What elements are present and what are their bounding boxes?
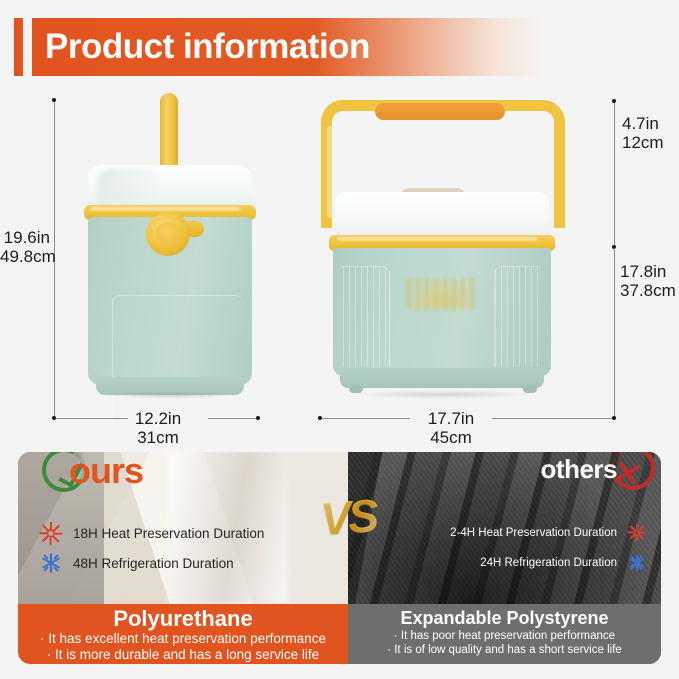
dimension-label-right-width: 17.7in 45cm: [411, 409, 491, 447]
product-image-side-view: [313, 100, 573, 400]
lid: [335, 192, 549, 240]
footer-others: Expandable Polystyrene · It has poor hea…: [348, 604, 661, 664]
badge-label-ours: ours: [69, 452, 143, 496]
comparison-panel-others: others 2-4H Heat Preservation Duration: [348, 452, 661, 664]
product-image-front-view: [82, 165, 258, 398]
material-title-others: Expandable Polystyrene: [348, 604, 661, 629]
handle-pivot-inner: [156, 222, 180, 246]
dimension-value-inches: 19.6in: [0, 228, 50, 247]
dimension-dot: [612, 99, 616, 103]
comparison-panel-ours: ours 18H Heat Preservation Duration: [18, 452, 348, 664]
rim-highlight: [90, 207, 240, 211]
footer-ours: Polyurethane · It has excellent heat pre…: [18, 604, 348, 664]
snowflake-icon: [40, 552, 62, 574]
dimension-value-cm: 12cm: [622, 133, 678, 152]
dimension-dot: [612, 416, 616, 420]
lid: [88, 165, 252, 209]
spec-row-heat-others: 2-4H Heat Preservation Duration: [450, 524, 645, 541]
material-bullet-ours-1: · It has excellent heat preservation per…: [18, 631, 348, 647]
drop-shadow: [349, 390, 535, 399]
spec-text-heat-ours: 18H Heat Preservation Duration: [73, 526, 264, 541]
sun-icon: [40, 522, 62, 544]
spec-text-cold-ours: 48H Refrigeration Duration: [73, 556, 234, 571]
dimension-line-right-handle: [614, 101, 615, 247]
dimension-value-cm: 45cm: [411, 428, 491, 447]
dimension-label-right-handle: 4.7in 12cm: [622, 114, 678, 152]
dimension-value-inches: 17.8in: [620, 262, 678, 281]
dimension-dot: [256, 416, 260, 420]
dimension-value-cm: 31cm: [118, 428, 198, 447]
spec-text-heat-others: 2-4H Heat Preservation Duration: [450, 527, 617, 539]
badge-others: others: [495, 452, 655, 498]
dimension-value-cm: 49.8cm: [0, 247, 50, 266]
body-ribbing-left: [343, 266, 390, 367]
dimension-value-cm: 37.8cm: [620, 281, 678, 300]
infographic-canvas: Product information 19.6in 49.8cm 12.2in…: [0, 0, 679, 679]
lid-highlight: [98, 169, 158, 203]
spec-row-cold-ours: 48H Refrigeration Duration: [40, 552, 234, 574]
handle-grip-pad: [375, 103, 505, 120]
x-mark-icon: [616, 465, 641, 481]
material-bullet-ours-2: · It is more durable and has a long serv…: [18, 647, 348, 663]
spec-row-heat-ours: 18H Heat Preservation Duration: [40, 522, 264, 544]
cooler-body: [333, 248, 551, 376]
dimension-label-right-height: 17.8in 37.8cm: [620, 262, 678, 300]
page-title: Product information: [45, 21, 370, 73]
comparison-section: ours 18H Heat Preservation Duration: [18, 452, 661, 664]
dimension-label-left-height: 19.6in 49.8cm: [0, 228, 50, 266]
header-accent-bar: [14, 18, 23, 76]
badge-ours: ours: [42, 452, 190, 498]
dimension-value-inches: 12.2in: [118, 409, 198, 428]
dimension-line-right-width-b: [492, 418, 612, 419]
body-ribbing-right: [494, 266, 541, 367]
dimension-dot: [52, 98, 56, 102]
drop-shadow: [104, 391, 238, 399]
rim-highlight: [337, 237, 537, 241]
badge-label-others: others: [541, 452, 617, 492]
dimension-value-inches: 17.7in: [411, 409, 491, 428]
dimension-line-right-height: [614, 248, 615, 418]
material-title-ours: Polyurethane: [18, 604, 348, 631]
spec-row-cold-others: 24H Refrigeration Duration: [480, 554, 645, 571]
cooler-base: [340, 368, 544, 388]
brand-logo-embossed: [407, 278, 477, 310]
material-bullet-others-1: · It has poor heat preservation performa…: [348, 629, 661, 643]
dimension-label-left-width: 12.2in 31cm: [118, 409, 198, 447]
dimension-line-left-width-b: [208, 418, 260, 419]
material-bullet-others-2: · It is of low quality and has a short s…: [348, 643, 661, 657]
dimension-dot: [318, 416, 322, 420]
dimension-line-right-width-a: [322, 418, 410, 419]
sun-icon: [628, 524, 645, 541]
spec-text-cold-others: 24H Refrigeration Duration: [480, 557, 617, 569]
dimension-value-inches: 4.7in: [622, 114, 678, 133]
snowflake-icon: [628, 554, 645, 571]
body-panel-crease: [112, 295, 243, 424]
handle-highlight: [327, 126, 333, 218]
